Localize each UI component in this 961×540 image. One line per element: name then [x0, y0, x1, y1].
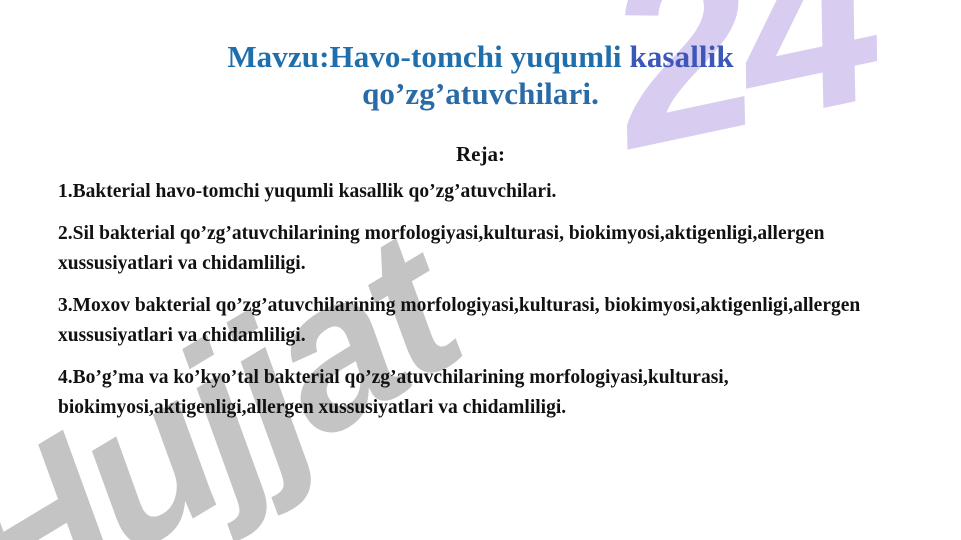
agenda-list: 1.Bakterial havo-tomchi yuqumli kasallik… [58, 177, 913, 424]
presentation-slide: 24 Hujjat Mavzu:Havo-tomchi yuqumli kasa… [0, 0, 961, 540]
list-item: 4.Bo’g’ma va ko’kyo’tal bakterial qo’zg’… [58, 363, 918, 424]
list-item: 2.Sil bakterial qo’zg’atuvchilarining mo… [58, 219, 913, 280]
title-line-1-accent: kasallik [629, 39, 733, 74]
slide-title: Mavzu:Havo-tomchi yuqumli kasallik qo’zg… [108, 38, 853, 112]
list-item: 1.Bakterial havo-tomchi yuqumli kasallik… [58, 177, 913, 208]
title-line-1-prefix: Mavzu:Havo-tomchi yuqumli [227, 39, 629, 74]
reja-heading: Reja: [0, 142, 961, 167]
list-item: 3.Moxov bakterial qo’zg’atuvchilarining … [58, 291, 913, 352]
title-line-1: Mavzu:Havo-tomchi yuqumli kasallik [108, 38, 853, 75]
title-line-2: qo’zg’atuvchilari. [108, 75, 853, 112]
slide-content: Mavzu:Havo-tomchi yuqumli kasallik qo’zg… [0, 0, 961, 540]
